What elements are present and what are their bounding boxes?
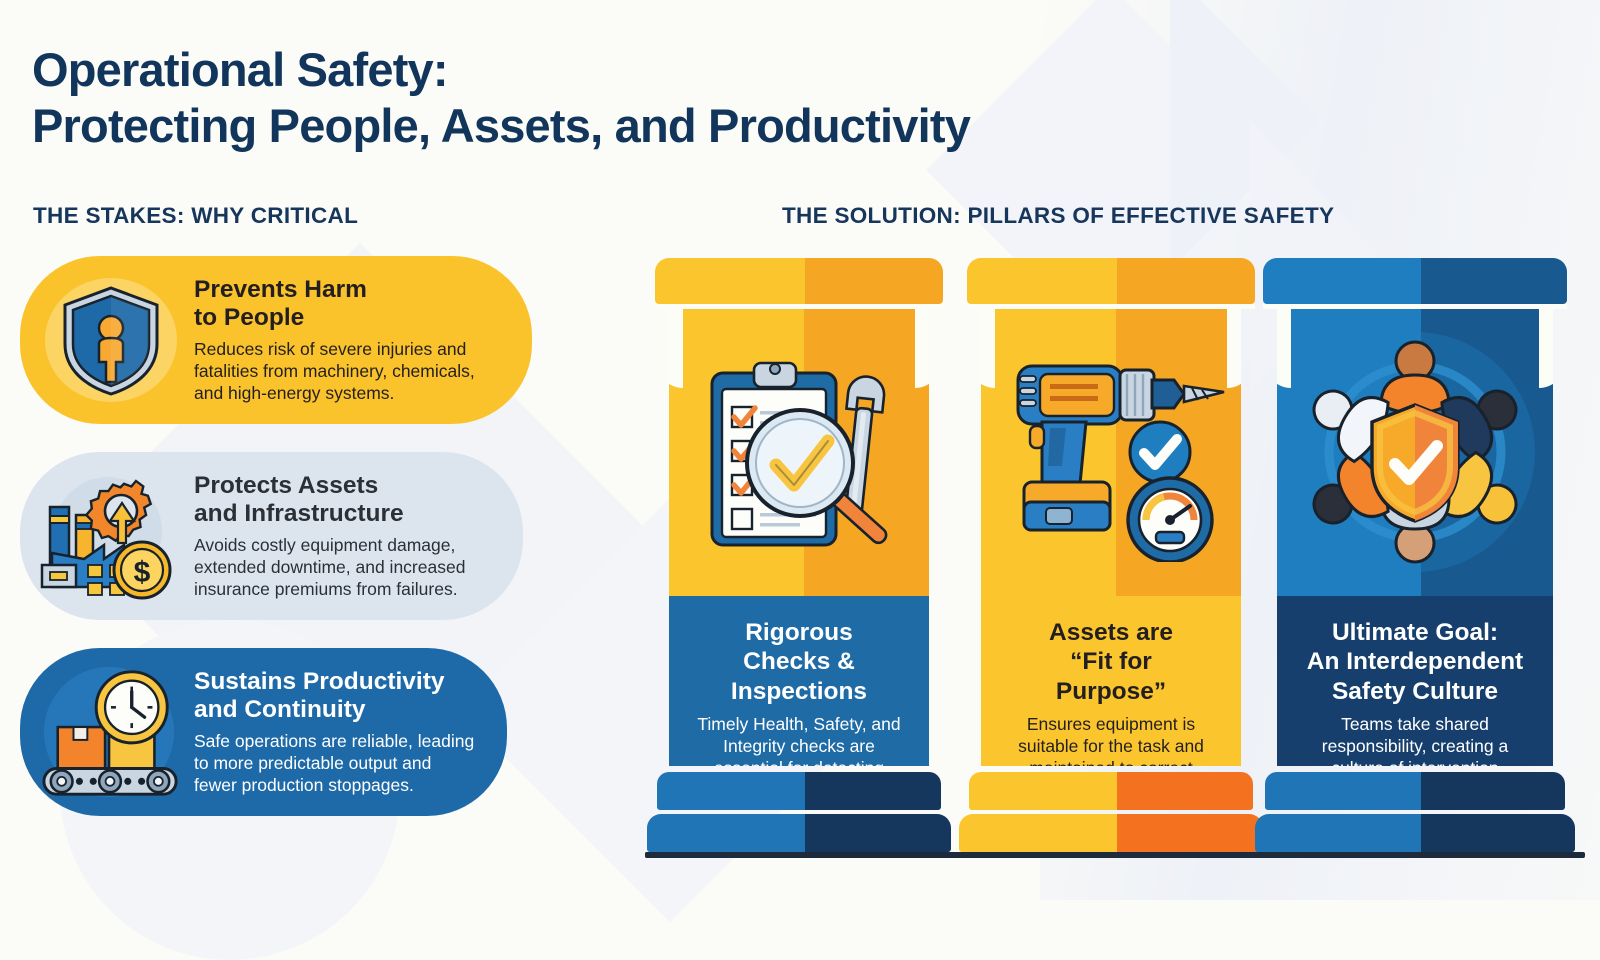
pillar-cap-groove (1263, 304, 1567, 309)
pillar-cap-groove (967, 304, 1255, 309)
pillar-shaft: Rigorous Checks & Inspections Timely Hea… (669, 308, 929, 766)
stake-card-text: Protects Assets and Infrastructure Avoid… (186, 472, 475, 600)
stake-card-title: Prevents Harm to People (194, 276, 475, 333)
pillar-capital (1263, 258, 1567, 304)
page-title-line-1: Operational Safety: (32, 42, 1272, 98)
pillars-group: Rigorous Checks & Inspections Timely Hea… (655, 258, 1567, 858)
pillar-title: Assets are “Fit for Purpose” (999, 618, 1223, 706)
power-drill-check-gauge-icon (981, 308, 1241, 596)
pillar-base-upper (657, 772, 941, 810)
clipboard-magnifier-wrench-icon (669, 308, 929, 596)
pillar-capital (967, 258, 1255, 304)
stake-card-prevents-harm[interactable]: Prevents Harm to People Reduces risk of … (20, 256, 532, 424)
pillar-text-panel: Rigorous Checks & Inspections Timely Hea… (669, 596, 929, 766)
shield-person-icon (36, 270, 186, 410)
stake-card-sustains-productivity[interactable]: Sustains Productivity and Continuity Saf… (20, 648, 507, 816)
pillar-safety-culture[interactable]: Ultimate Goal: An Interdependent Safety … (1263, 258, 1567, 858)
pillar-description: Teams take shared responsibility, creati… (1295, 713, 1535, 766)
pillar-text-panel: Assets are “Fit for Purpose” Ensures equ… (981, 596, 1241, 766)
pillar-cap-groove (655, 304, 943, 309)
pillar-rigorous-checks[interactable]: Rigorous Checks & Inspections Timely Hea… (655, 258, 943, 858)
stake-card-text: Sustains Productivity and Continuity Saf… (186, 668, 484, 796)
factory-gear-dollar-icon: $ (36, 466, 186, 606)
team-circle-shield-icon (1277, 308, 1553, 596)
pillar-capital (655, 258, 943, 304)
pillar-base-lower (1255, 814, 1575, 852)
pillar-title: Rigorous Checks & Inspections (687, 618, 911, 706)
stakes-section-heading: THE STAKES: WHY CRITICAL (33, 203, 358, 229)
pillar-fit-for-purpose[interactable]: Assets are “Fit for Purpose” Ensures equ… (967, 258, 1255, 858)
pillar-base-upper (1265, 772, 1565, 810)
stake-card-description: Reduces risk of severe injuries and fata… (194, 338, 475, 404)
pillar-base-upper (969, 772, 1253, 810)
stake-card-title: Sustains Productivity and Continuity (194, 668, 474, 725)
conveyor-clock-icon (36, 662, 186, 802)
pillar-description: Ensures equipment is suitable for the ta… (999, 713, 1223, 766)
svg-text:$: $ (134, 556, 151, 589)
pillar-description: Timely Health, Safety, and Integrity che… (687, 713, 911, 766)
pillar-shaft: Ultimate Goal: An Interdependent Safety … (1277, 308, 1553, 766)
stake-card-description: Avoids costly equipment damage, extended… (194, 534, 465, 600)
pillar-base-lower (647, 814, 951, 852)
page-title-line-2: Protecting People, Assets, and Productiv… (32, 98, 1272, 154)
pillar-base-lower (959, 814, 1263, 852)
pillar-title: Ultimate Goal: An Interdependent Safety … (1295, 618, 1535, 706)
stakes-card-list: Prevents Harm to People Reduces risk of … (20, 256, 532, 844)
stake-card-description: Safe operations are reliable, leading to… (194, 730, 474, 796)
stake-card-text: Prevents Harm to People Reduces risk of … (186, 276, 485, 404)
pillars-ground-line (645, 852, 1572, 858)
pillar-text-panel: Ultimate Goal: An Interdependent Safety … (1277, 596, 1553, 766)
pillar-shaft: Assets are “Fit for Purpose” Ensures equ… (981, 308, 1241, 766)
stake-card-protects-assets[interactable]: $ Protects Assets and Infrastructure Avo… (20, 452, 523, 620)
page-title: Operational Safety: Protecting People, A… (32, 42, 1272, 155)
solution-section-heading: THE SOLUTION: PILLARS OF EFFECTIVE SAFET… (782, 203, 1334, 229)
stake-card-title: Protects Assets and Infrastructure (194, 472, 465, 529)
